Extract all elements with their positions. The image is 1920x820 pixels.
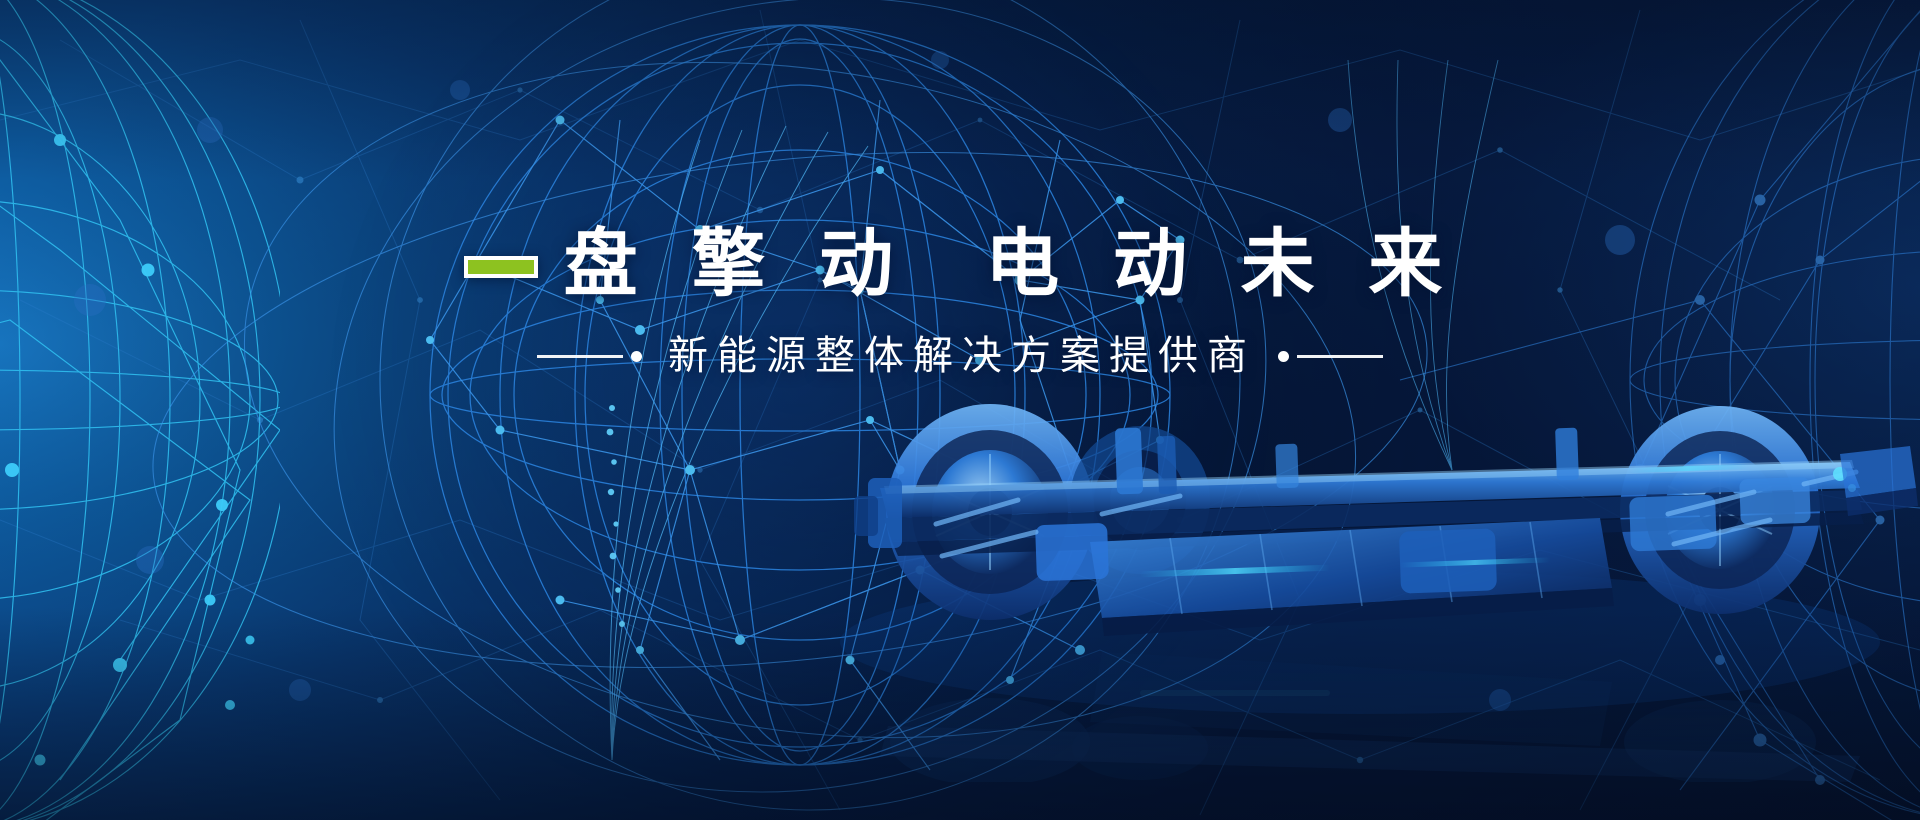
subtitle-row: 新能源整体解决方案提供商 xyxy=(537,336,1383,376)
banner-copy: 一 盘 擎 动 电 动 未 来 新能源整体解决方案提供商 xyxy=(0,218,1920,376)
headline: 一 盘 擎 动 电 动 未 来 xyxy=(464,218,1457,310)
decoration-dot-icon xyxy=(631,351,642,362)
background-vignette xyxy=(0,0,1920,820)
subtitle-decoration-right xyxy=(1278,351,1383,362)
decoration-rule xyxy=(537,355,623,358)
decoration-rule xyxy=(1297,355,1383,358)
headline-segment-one: 盘 擎 动 xyxy=(564,227,908,301)
headline-lead-bar-icon xyxy=(464,256,538,278)
decoration-dot-icon xyxy=(1278,351,1289,362)
subtitle-text: 新能源整体解决方案提供商 xyxy=(668,336,1256,376)
subtitle-decoration-left xyxy=(537,351,642,362)
hero-banner: 一 盘 擎 动 电 动 未 来 新能源整体解决方案提供商 xyxy=(0,0,1920,820)
headline-segment-two: 电 动 未 来 xyxy=(985,227,1456,301)
